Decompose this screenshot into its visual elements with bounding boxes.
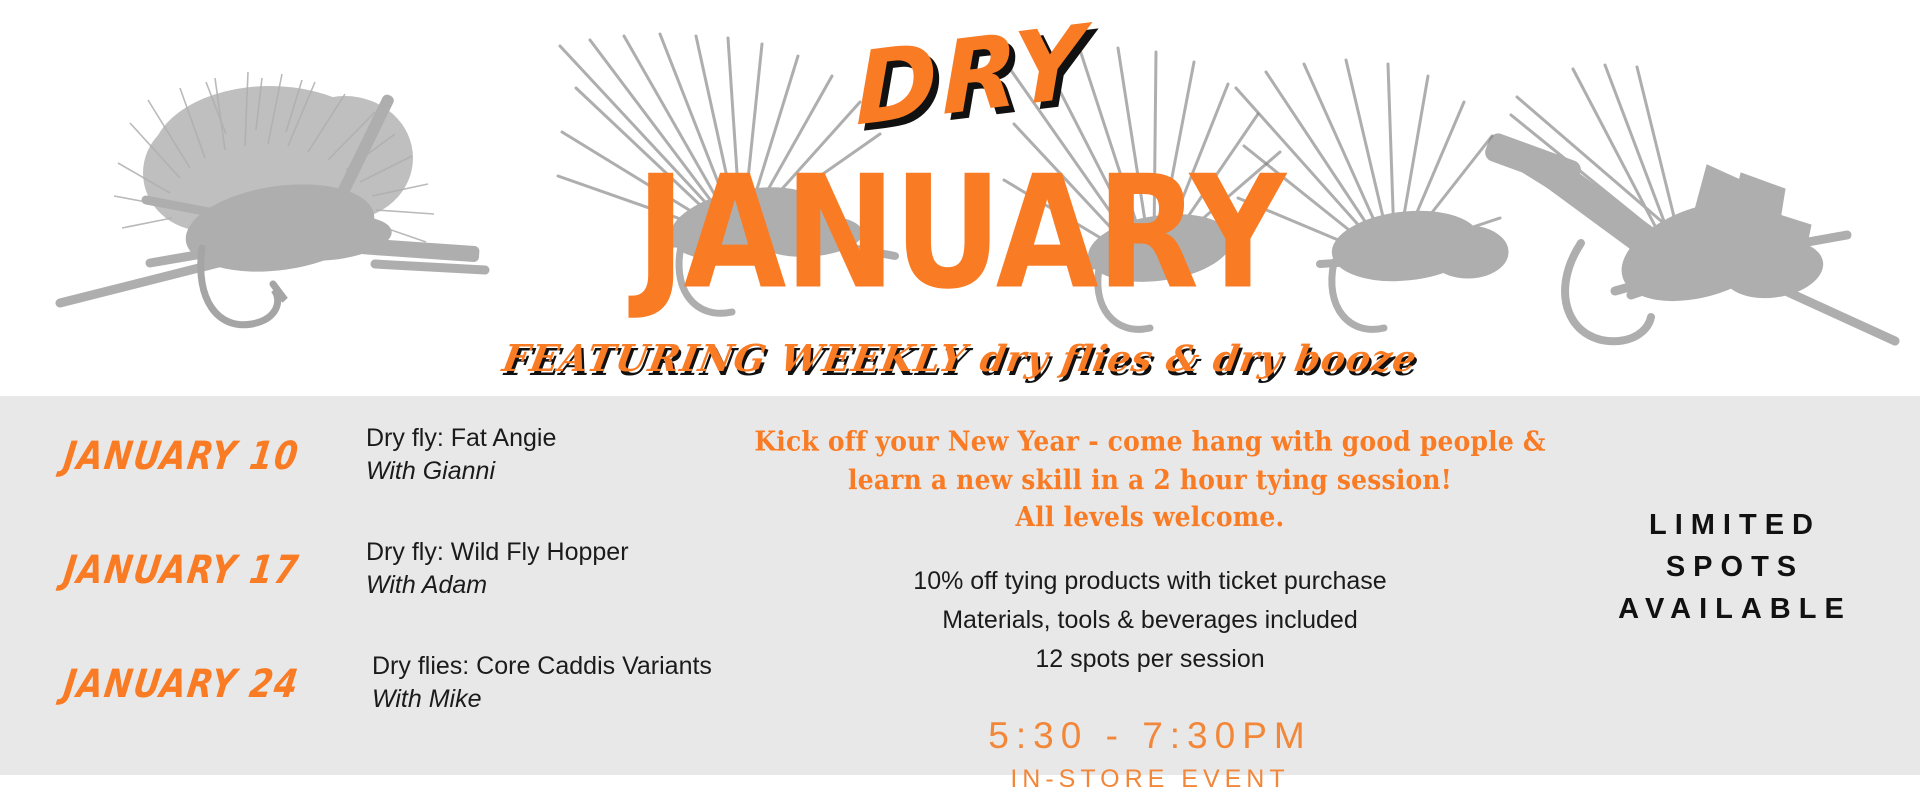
event-detail-included: Materials, tools & beverages included xyxy=(740,601,1560,640)
schedule-row: JANUARY 10 Dry fly: Fat Angie With Giann… xyxy=(58,408,778,522)
event-headline-line-3: All levels welcome. xyxy=(740,499,1560,537)
event-headline-line-1: Kick off your New Year - come hang with … xyxy=(740,423,1560,461)
event-detail-discount: 10% off tying products with ticket purch… xyxy=(740,562,1560,601)
schedule-instructor: With Mike xyxy=(372,683,802,716)
event-headline: Kick off your New Year - come hang with … xyxy=(740,423,1560,537)
schedule-fly-name: Dry flies: Core Caddis Variants xyxy=(372,650,802,683)
info-panel: JANUARY 10 Dry fly: Fat Angie With Giann… xyxy=(0,396,1920,775)
event-details: 10% off tying products with ticket purch… xyxy=(740,562,1560,679)
tagline-caps: FEATURING WEEKLY xyxy=(499,336,970,380)
event-description-column: Kick off your New Year - come hang with … xyxy=(740,396,1560,794)
hero-band: DRY JANUARY FEATURING WEEKLY dry flies &… xyxy=(0,0,1920,396)
schedule-fly-name: Dry fly: Fat Angie xyxy=(366,422,796,455)
event-type: IN-STORE EVENT xyxy=(740,765,1560,794)
schedule-date: JANUARY 10 xyxy=(61,432,327,478)
schedule-detail: Dry flies: Core Caddis Variants With Mik… xyxy=(372,650,802,716)
dry-january-event-banner: DRY JANUARY FEATURING WEEKLY dry flies &… xyxy=(0,0,1920,775)
fly-silhouette-5-icon xyxy=(1455,55,1905,385)
limited-spots-line-1: LIMITED xyxy=(1570,504,1900,546)
schedule-detail: Dry fly: Fat Angie With Gianni xyxy=(366,422,796,488)
limited-spots-line-3: AVAILABLE xyxy=(1570,588,1900,630)
event-time: 5:30 - 7:30PM xyxy=(740,715,1560,757)
schedule-detail: Dry fly: Wild Fly Hopper With Adam xyxy=(366,536,796,602)
fly-silhouette-1-icon xyxy=(30,38,500,368)
schedule-fly-name: Dry fly: Wild Fly Hopper xyxy=(366,536,796,569)
fly-silhouette-2-icon xyxy=(520,28,900,328)
schedule-row: JANUARY 24 Dry flies: Core Caddis Varian… xyxy=(58,636,778,750)
event-detail-capacity: 12 spots per session xyxy=(740,640,1560,679)
limited-spots-line-2: SPOTS xyxy=(1570,546,1900,588)
schedule-instructor: With Adam xyxy=(366,569,796,602)
tagline-script: dry flies & dry booze xyxy=(977,338,1421,380)
schedule-row: JANUARY 17 Dry fly: Wild Fly Hopper With… xyxy=(58,522,778,636)
event-headline-line-2: learn a new skill in a 2 hour tying sess… xyxy=(740,461,1560,499)
schedule-date: JANUARY 24 xyxy=(61,660,327,706)
schedule-instructor: With Gianni xyxy=(366,455,796,488)
schedule-list: JANUARY 10 Dry fly: Fat Angie With Giann… xyxy=(58,408,778,750)
schedule-date: JANUARY 17 xyxy=(61,546,327,592)
limited-spots-callout: LIMITED SPOTS AVAILABLE xyxy=(1570,504,1900,630)
